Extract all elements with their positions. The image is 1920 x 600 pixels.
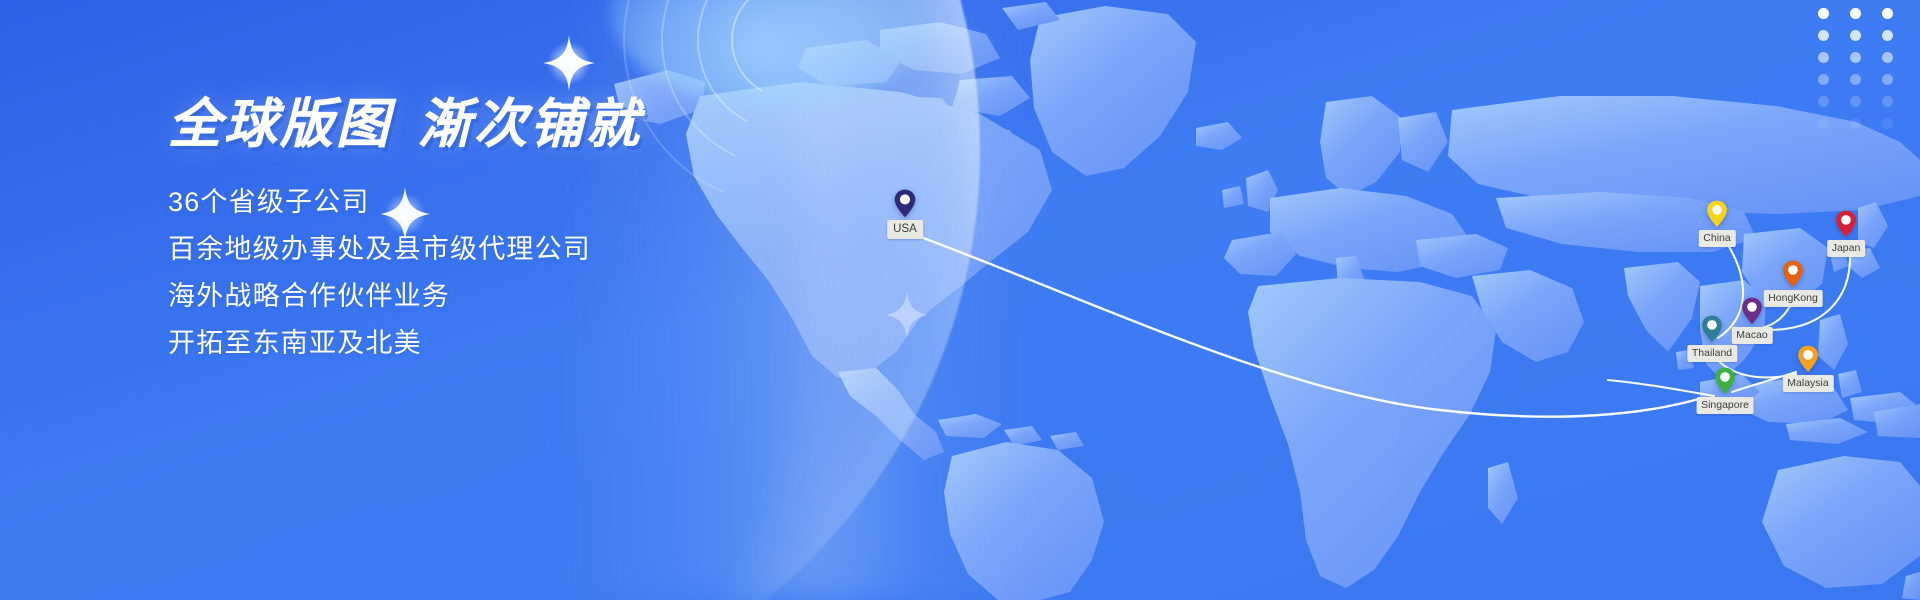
map-pin-icon <box>894 189 916 218</box>
map-marker-label-malaysia: Malaysia <box>1782 375 1833 392</box>
map-marker-label-macao: Macao <box>1731 327 1773 344</box>
map-marker-label-hongkong: HongKong <box>1763 290 1823 307</box>
subtitle-line-4: 开拓至东南亚及北美 <box>168 320 868 367</box>
map-marker-hongkong[interactable]: HongKong <box>1783 260 1804 288</box>
map-marker-label-china: China <box>1698 230 1735 247</box>
map-marker-label-japan: Japan <box>1827 240 1866 257</box>
map-marker-macao[interactable]: Macao <box>1742 297 1763 325</box>
page-title-part2: 渐次铺就 <box>418 95 642 154</box>
page-title: 全球版图渐次铺就 <box>168 96 868 153</box>
map-marker-label-singapore: Singapore <box>1696 397 1754 414</box>
map-pin-icon <box>1707 200 1728 228</box>
map-pin-icon <box>1742 297 1763 325</box>
map-pin-icon <box>1836 210 1857 238</box>
map-marker-japan[interactable]: Japan <box>1836 210 1857 238</box>
map-pin-icon <box>1798 345 1819 373</box>
map-marker-malaysia[interactable]: Malaysia <box>1798 345 1819 373</box>
map-marker-label-usa: USA <box>887 220 923 239</box>
subtitle-line-3: 海外战略合作伙伴业务 <box>168 273 868 320</box>
map-pin-icon <box>1715 367 1736 395</box>
map-marker-singapore[interactable]: Singapore <box>1715 367 1736 395</box>
map-marker-thailand[interactable]: Thailand <box>1702 315 1723 343</box>
page-title-part1: 全球版图 <box>168 95 392 154</box>
subtitle-line-1: 36个省级子公司 <box>168 179 868 226</box>
global-map-banner: 全球版图渐次铺就 36个省级子公司 百余地级办事处及县市级代理公司 海外战略合作… <box>0 0 1920 600</box>
map-pin-icon <box>1783 260 1804 288</box>
map-marker-label-thailand: Thailand <box>1687 345 1737 362</box>
map-marker-china[interactable]: China <box>1707 200 1728 228</box>
subtitle-line-2: 百余地级办事处及县市级代理公司 <box>168 226 868 273</box>
map-pin-icon <box>1702 315 1723 343</box>
map-marker-usa[interactable]: USA <box>894 189 916 218</box>
banner-text-block: 全球版图渐次铺就 36个省级子公司 百余地级办事处及县市级代理公司 海外战略合作… <box>168 96 868 367</box>
